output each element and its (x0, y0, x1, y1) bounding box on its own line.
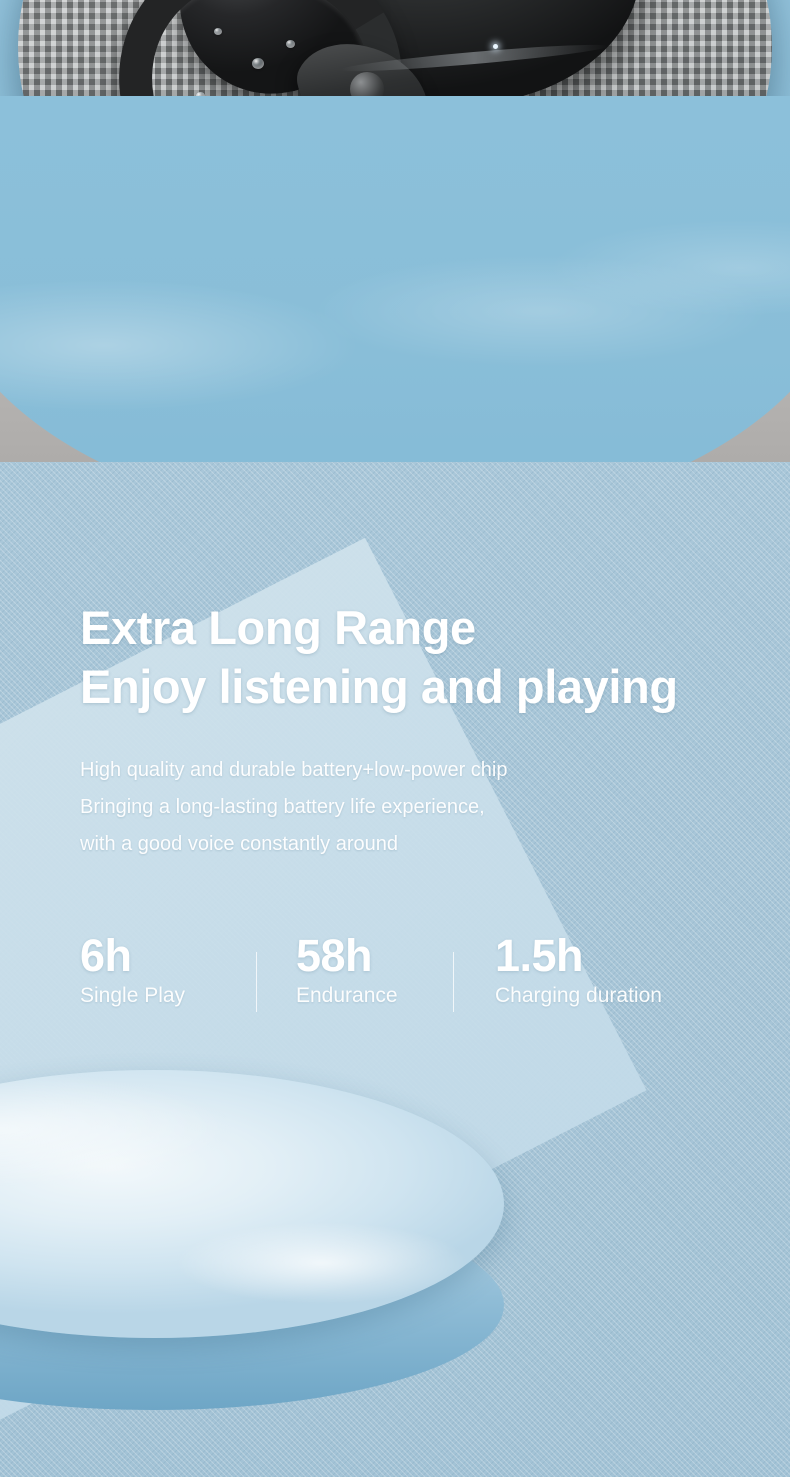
stat-label: Endurance (296, 982, 398, 1010)
headline-line-1: Extra Long Range (80, 598, 678, 657)
led-indicator-icon (493, 44, 498, 49)
body-line-2: Bringing a long-lasting battery life exp… (80, 789, 507, 826)
stat-value: 1.5h (495, 930, 662, 982)
water-droplet (286, 40, 295, 48)
spec-stats-row: 6h Single Play 58h Endurance 1.5h Chargi… (80, 930, 730, 1030)
stat-divider (256, 952, 257, 1012)
water-droplet (214, 28, 222, 35)
hero-body-copy: High quality and durable battery+low-pow… (80, 752, 507, 863)
stat-label: Charging duration (495, 982, 662, 1010)
stat-label: Single Play (80, 982, 185, 1010)
product-feature-page: Extra Long Range Enjoy listening and pla… (0, 0, 790, 1477)
headline-line-2: Enjoy listening and playing (80, 657, 678, 716)
stat-endurance: 58h Endurance (296, 930, 398, 1010)
stat-single-play: 6h Single Play (80, 930, 185, 1010)
body-line-1: High quality and durable battery+low-pow… (80, 752, 507, 789)
water-droplet (252, 58, 264, 69)
hero-headline: Extra Long Range Enjoy listening and pla… (80, 598, 678, 716)
stat-value: 58h (296, 930, 398, 982)
stat-divider (453, 952, 454, 1012)
grey-transition-band (0, 332, 790, 462)
stat-value: 6h (80, 930, 185, 982)
body-line-3: with a good voice constantly around (80, 826, 507, 863)
stat-charging-duration: 1.5h Charging duration (495, 930, 662, 1010)
